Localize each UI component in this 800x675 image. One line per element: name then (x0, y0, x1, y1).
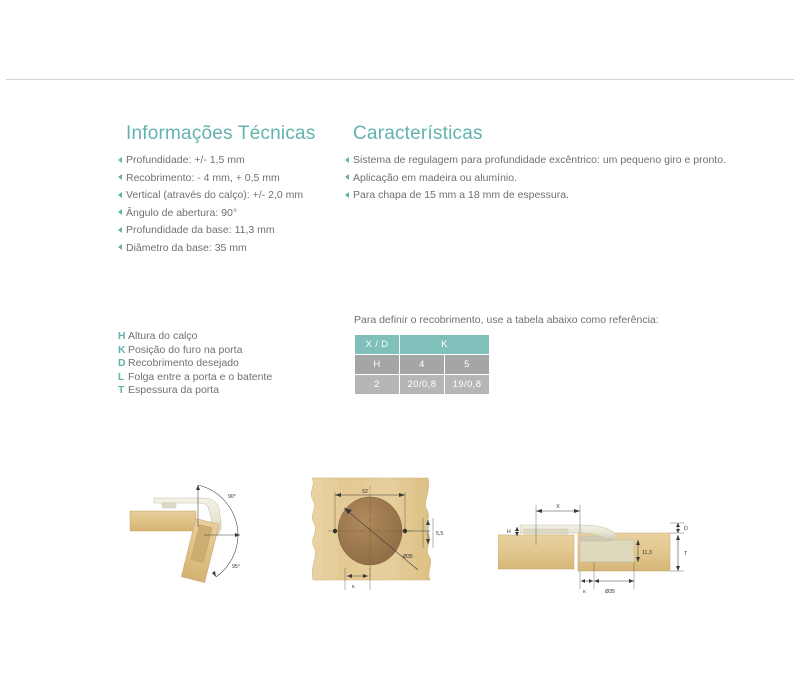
table-cell: 20/0,8 (400, 375, 444, 394)
list-item: Profundidade da base: 11,3 mm (118, 222, 348, 238)
dimension-h: H (507, 527, 519, 536)
triangle-bullet-icon (345, 192, 349, 198)
reference-table-caption: Para definir o recobrimento, use a tabel… (354, 314, 659, 326)
list-item-label: Sistema de regulagem para profundidade e… (353, 152, 726, 168)
dimension-thickness-label: T (684, 551, 688, 557)
dimension-x-label: X (556, 504, 560, 510)
angle-open-label: 90° (228, 494, 236, 500)
table-cell: K (400, 335, 489, 354)
table-cell: 19/0,8 (445, 375, 489, 394)
list-item-label: Ângulo de abertura: 90° (126, 205, 237, 221)
list-item: Diâmetro da base: 35 mm (118, 240, 348, 256)
header-divider (6, 79, 794, 80)
dimension-d-t: D T (670, 523, 688, 571)
dimension-depth-label: 11,3 (642, 550, 652, 556)
cabinet-panel (130, 511, 196, 531)
list-item: Recobrimento: - 4 mm, + 0,5 mm (118, 170, 348, 186)
legend-description: Recobrimento desejado (128, 357, 239, 371)
list-item: Aplicação em madeira ou alumínio. (345, 170, 785, 186)
door-panel-cup-hole-diagram: 52 5,5 Ø35 (290, 468, 465, 593)
symbol-legend: H Altura do calço K Posição do furo na p… (118, 330, 272, 398)
features-list: Sistema de regulagem para profundidade e… (345, 152, 785, 205)
table-row: H 4 5 (355, 355, 489, 374)
triangle-bullet-icon (118, 227, 122, 233)
table-cell: 4 (400, 355, 444, 374)
legend-item: D Recobrimento desejado (118, 357, 272, 371)
triangle-bullet-icon (118, 192, 122, 198)
table-row: 2 20/0,8 19/0,8 (355, 375, 489, 394)
legend-key: D (118, 357, 128, 371)
list-item: Sistema de regulagem para profundidade e… (345, 152, 785, 168)
table-cell: 2 (355, 375, 399, 394)
legend-key: K (118, 344, 128, 358)
triangle-bullet-icon (118, 174, 122, 180)
triangle-bullet-icon (118, 209, 122, 215)
hinge-opening-angles-diagram: 90° 95° (118, 465, 278, 595)
legend-item: T Espessura da porta (118, 384, 272, 398)
legend-key: H (118, 330, 128, 344)
dimension-diameter-label: Ø35 (605, 589, 615, 595)
legend-item: L Folga entre a porta e o batente (118, 371, 272, 385)
legend-description: Altura do calço (128, 330, 197, 344)
list-item: Ângulo de abertura: 90° (118, 205, 348, 221)
panel-k-label: K (352, 584, 356, 589)
overlay-reference-table: X / D K H 4 5 2 20/0,8 19/0,8 (354, 334, 490, 395)
list-item-label: Diâmetro da base: 35 mm (126, 240, 247, 256)
legend-description: Posição do furo na porta (128, 344, 242, 358)
legend-key: T (118, 384, 128, 398)
cup-diameter-label: Ø35 (403, 554, 413, 560)
list-item: Vertical (através do calço): +/- 2,0 mm (118, 187, 348, 203)
page-title-technical-information: Informações Técnicas (126, 123, 316, 145)
side-section-mounting-diagram: X H 11,3 (498, 483, 693, 598)
door-panel-section (578, 533, 670, 571)
legend-description: Espessura da porta (128, 384, 219, 398)
legend-item: H Altura do calço (118, 330, 272, 344)
angle-max-label: 95° (232, 564, 240, 570)
table-cell: X / D (355, 335, 399, 354)
list-item-label: Vertical (através do calço): +/- 2,0 mm (126, 187, 303, 203)
technical-information-list: Profundidade: +/- 1,5 mm Recobrimento: -… (118, 152, 348, 257)
list-item: Para chapa de 15 mm a 18 mm de espessura… (345, 187, 785, 203)
legend-description: Folga entre a porta e o batente (128, 371, 272, 385)
triangle-bullet-icon (118, 244, 122, 250)
page-title-features: Características (353, 123, 483, 145)
dimension-overlay-label: D (684, 526, 688, 532)
triangle-bullet-icon (345, 174, 349, 180)
table-cell: 5 (445, 355, 489, 374)
technical-datasheet-page: Informações Técnicas Profundidade: +/- 1… (0, 0, 800, 675)
list-item-label: Profundidade da base: 11,3 mm (126, 222, 275, 238)
table-cell: H (355, 355, 399, 374)
panel-width-label: 52 (362, 489, 368, 495)
list-item-label: Para chapa de 15 mm a 18 mm de espessura… (353, 187, 569, 203)
dimension-k-label: K (583, 589, 587, 594)
list-item-label: Profundidade: +/- 1,5 mm (126, 152, 245, 168)
legend-key: L (118, 371, 128, 385)
dimension-h-label: H (507, 529, 511, 535)
triangle-bullet-icon (118, 157, 122, 163)
legend-item: K Posição do furo na porta (118, 344, 272, 358)
list-item-label: Aplicação em madeira ou alumínio. (353, 170, 517, 186)
table-row: X / D K (355, 335, 489, 354)
triangle-bullet-icon (345, 157, 349, 163)
edge-distance-label: 5,5 (436, 531, 443, 537)
list-item: Profundidade: +/- 1,5 mm (118, 152, 348, 168)
list-item-label: Recobrimento: - 4 mm, + 0,5 mm (126, 170, 280, 186)
